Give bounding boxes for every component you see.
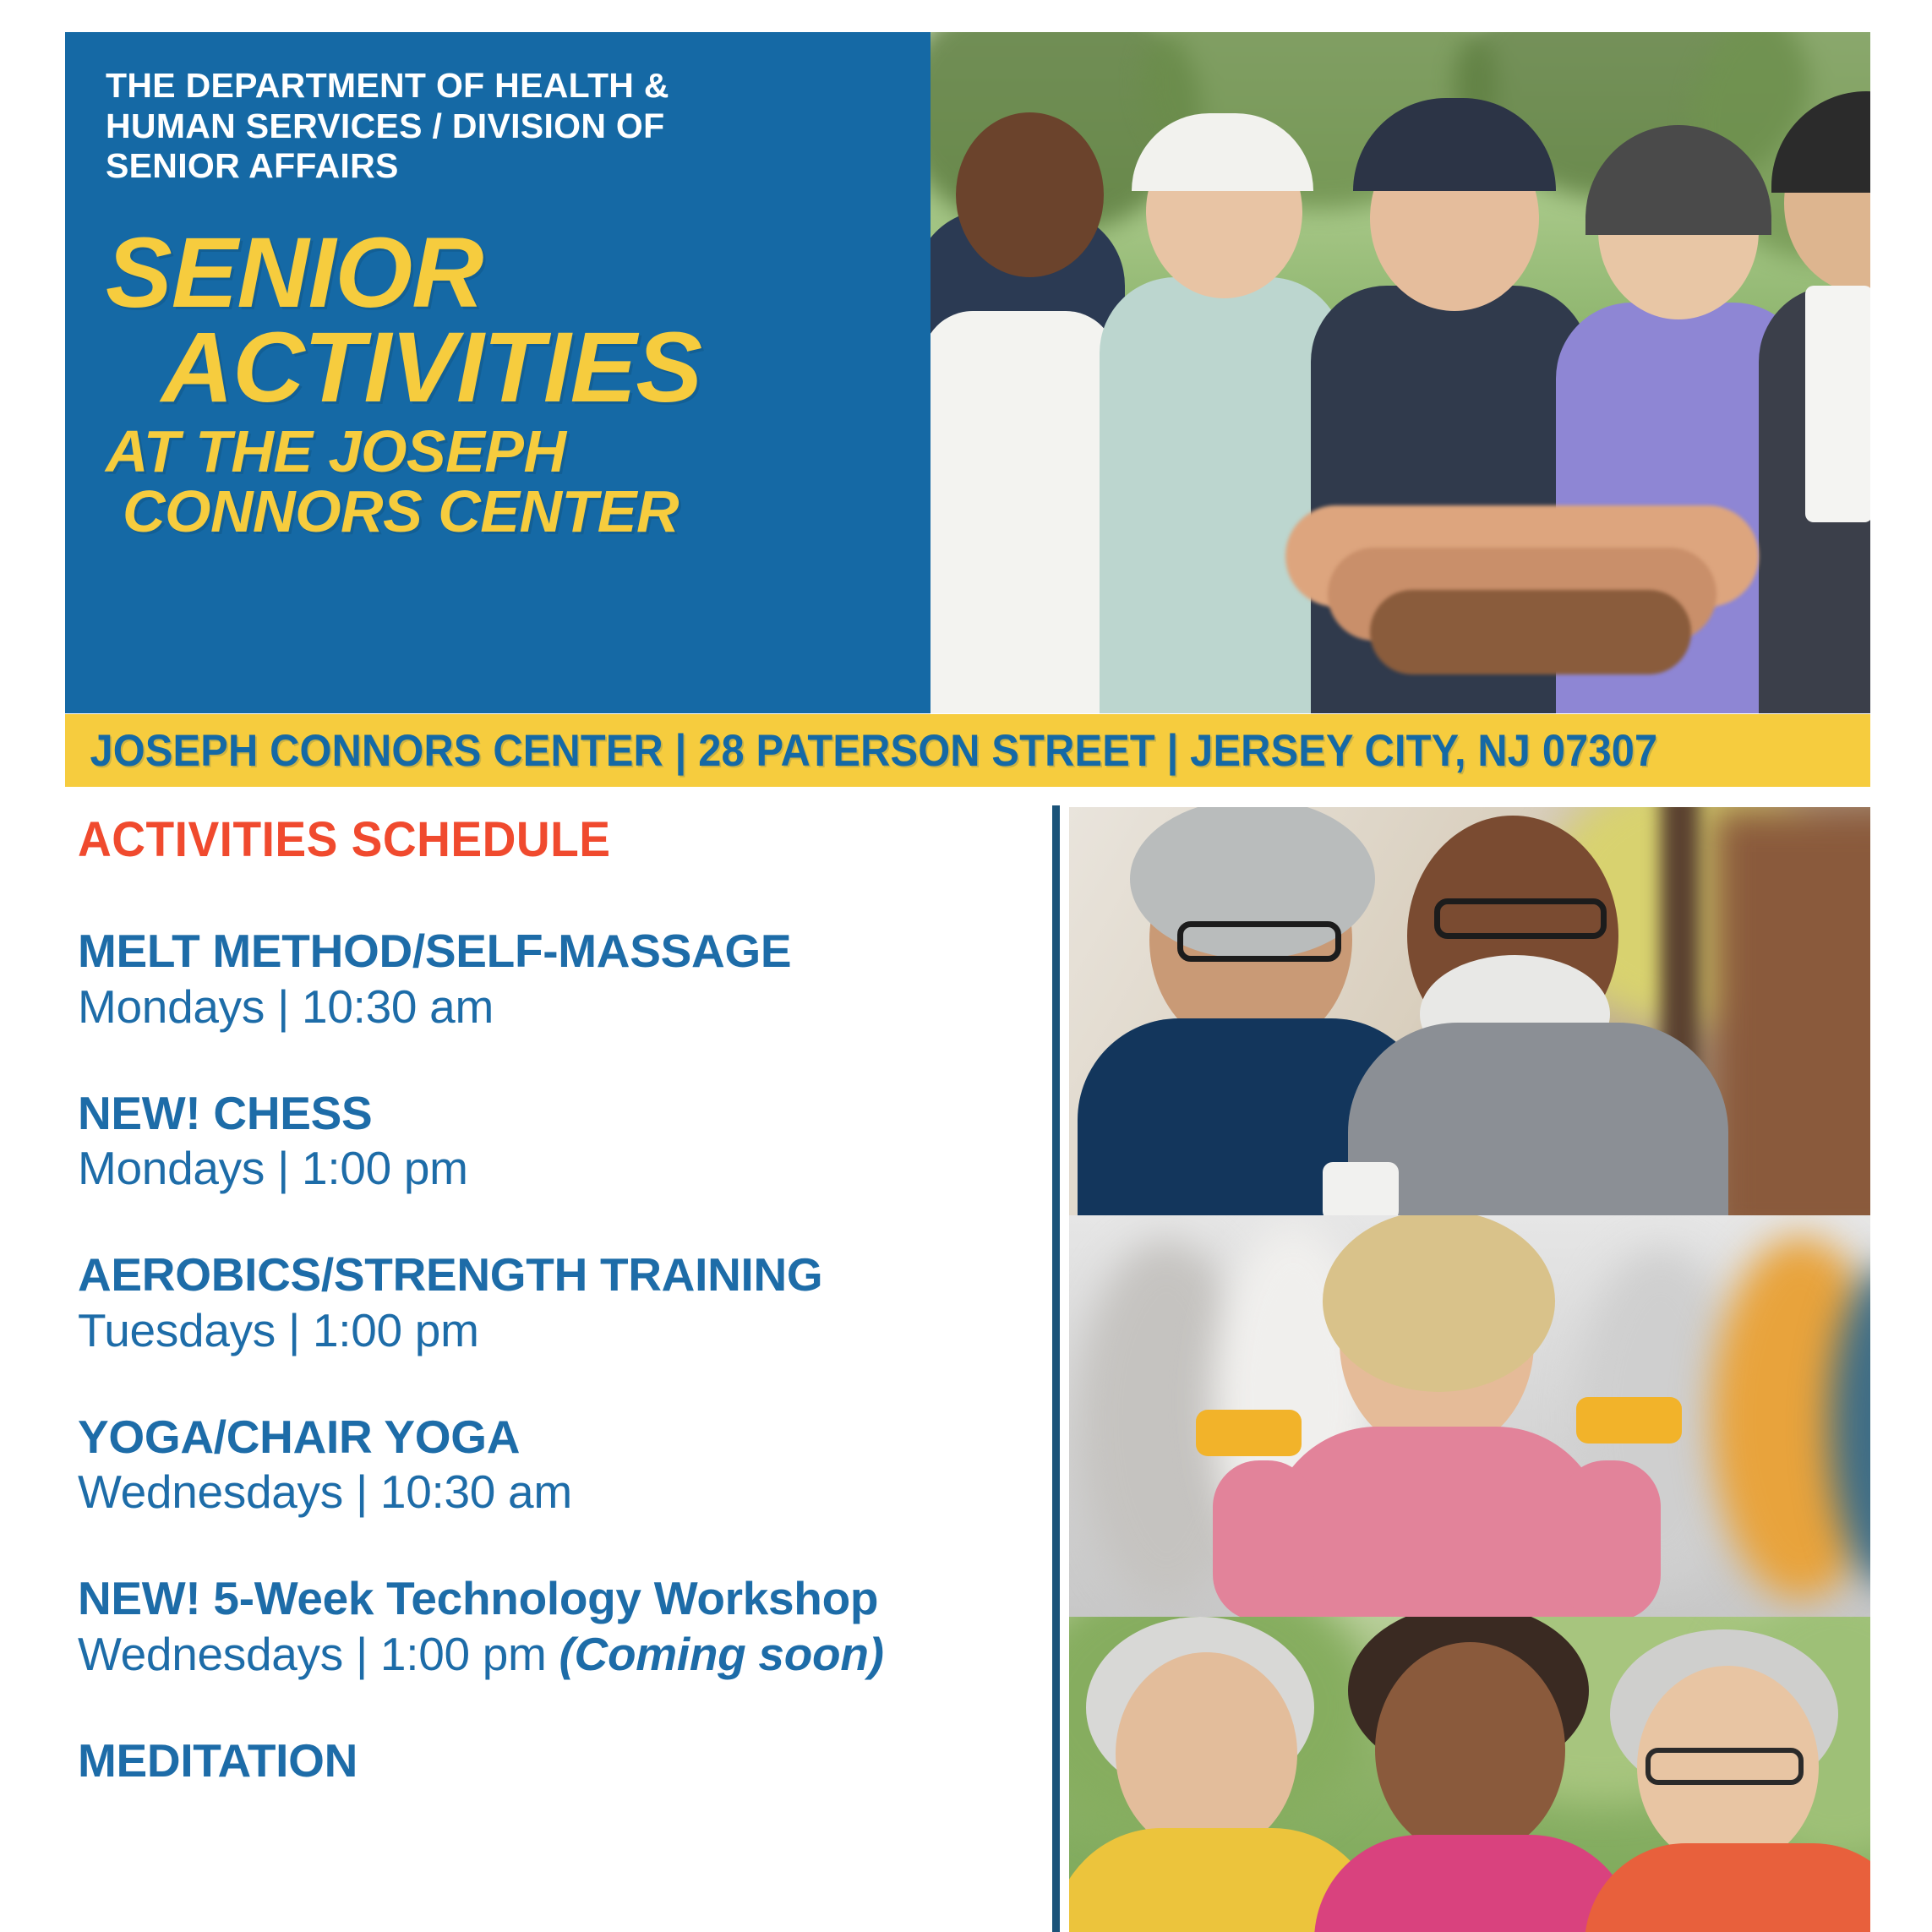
title-line-2: ACTIVITIES [106,320,890,415]
list-item: NEW! 5-Week Technology Workshop Wednesda… [78,1573,1007,1683]
address-bar: JOSEPH CONNORS CENTER | 28 PATERSON STRE… [65,714,1870,787]
activity-name: MEDITATION [78,1735,1007,1787]
photo-dumbbell-class [1069,1215,1870,1617]
activity-name: AEROBICS/STRENGTH TRAINING [78,1249,1007,1301]
page-subtitle: AT THE JOSEPH CONNORS CENTER [106,422,890,543]
eyeglasses [1434,898,1607,939]
department-line-2: HUMAN SERVICES / DIVISION OF [106,106,890,147]
sweater-shape [1348,1023,1728,1215]
photo-column [1069,807,1870,1932]
poster-title-block: SENIOR ACTIVITIES AT THE JOSEPH CONNORS … [106,226,890,543]
activity-day: Tuesdays [78,1304,276,1356]
person-head [1375,1642,1565,1858]
list-item: NEW! CHESS Mondays | 1:00 pm [78,1088,1007,1198]
list-item: MEDITATION [78,1735,1007,1787]
activity-time: Mondays | 10:30 am [78,979,1007,1035]
subtitle-line-2: CONNORS CENTER [106,482,890,542]
list-item: MELT METHOD/SELF-MASSAGE Mondays | 10:30… [78,925,1007,1035]
activity-hour: 1:00 pm [313,1304,479,1356]
page-title: SENIOR ACTIVITIES [106,226,890,415]
header-hero-photo [931,32,1870,713]
activity-time: Wednesdays | 10:30 am [78,1464,1007,1520]
activity-name: NEW! 5-Week Technology Workshop [78,1573,1007,1624]
towel [1805,286,1870,522]
arm [1213,1460,1314,1617]
header-blue-panel: THE DEPARTMENT OF HEALTH & HUMAN SERVICE… [65,32,931,713]
activity-time: Mondays | 1:00 pm [78,1140,1007,1197]
activity-separator: | [277,980,289,1033]
department-name: THE DEPARTMENT OF HEALTH & HUMAN SERVICE… [106,66,890,187]
shirt-shape [1268,1427,1606,1617]
list-item: YOGA/CHAIR YOGA Wednesdays | 10:30 am [78,1411,1007,1521]
mug [1323,1162,1399,1215]
activity-name: YOGA/CHAIR YOGA [78,1411,1007,1463]
activity-separator: | [277,1142,289,1194]
activity-hour: 10:30 am [380,1465,572,1518]
activity-hour: 10:30 am [302,980,494,1033]
address-text: JOSEPH CONNORS CENTER | 28 PATERSON STRE… [65,725,1657,777]
person-silhouette [1100,277,1345,713]
arm [1559,1460,1661,1617]
shirt-shape [1585,1843,1870,1932]
department-line-3: SENIOR AFFAIRS [106,146,890,187]
eyeglasses [1645,1748,1804,1785]
shirt-shape [1314,1835,1635,1932]
shirt-shape [931,311,1116,713]
photo-three-women-laughing [1069,1617,1870,1932]
dumbbell [1576,1397,1682,1444]
activity-day: Mondays [78,980,265,1033]
background-wall [1711,807,1870,1215]
person-head [956,112,1104,277]
person-head [1116,1652,1297,1855]
activity-day: Mondays [78,1142,265,1194]
list-item: AEROBICS/STRENGTH TRAINING Tuesdays | 1:… [78,1249,1007,1359]
activity-separator: | [288,1304,300,1356]
activity-time: Wednesdays | 1:00 pm (Coming soon) [78,1626,1007,1683]
vertical-divider [1052,805,1060,1932]
poster-header: THE DEPARTMENT OF HEALTH & HUMAN SERVICE… [65,32,1870,713]
activity-hour: 1:00 pm [302,1142,468,1194]
hair [1323,1215,1555,1392]
main-content: ACTIVITIES SCHEDULE MELT METHOD/SELF-MAS… [0,790,1932,1932]
subtitle-line-1: AT THE JOSEPH [106,418,566,484]
activity-time: Tuesdays | 1:00 pm [78,1302,1007,1359]
activity-day: Wednesdays [78,1465,343,1518]
department-line-1: THE DEPARTMENT OF HEALTH & [106,66,890,106]
activity-hour: 1:00 pm [380,1628,547,1680]
activities-schedule-heading: ACTIVITIES SCHEDULE [78,811,610,868]
activity-day: Wednesdays [78,1628,343,1680]
dumbbell [1196,1410,1302,1456]
eyeglasses [1177,921,1341,962]
activity-separator: | [356,1465,368,1518]
photo-senior-couple [1069,807,1870,1215]
activity-separator: | [356,1628,368,1680]
stacked-hands [1370,590,1691,674]
activity-name: MELT METHOD/SELF-MASSAGE [78,925,1007,977]
activity-name: NEW! CHESS [78,1088,1007,1139]
activity-note: (Coming soon) [559,1628,884,1680]
activities-schedule-list: MELT METHOD/SELF-MASSAGE Mondays | 10:30… [78,925,1007,1838]
